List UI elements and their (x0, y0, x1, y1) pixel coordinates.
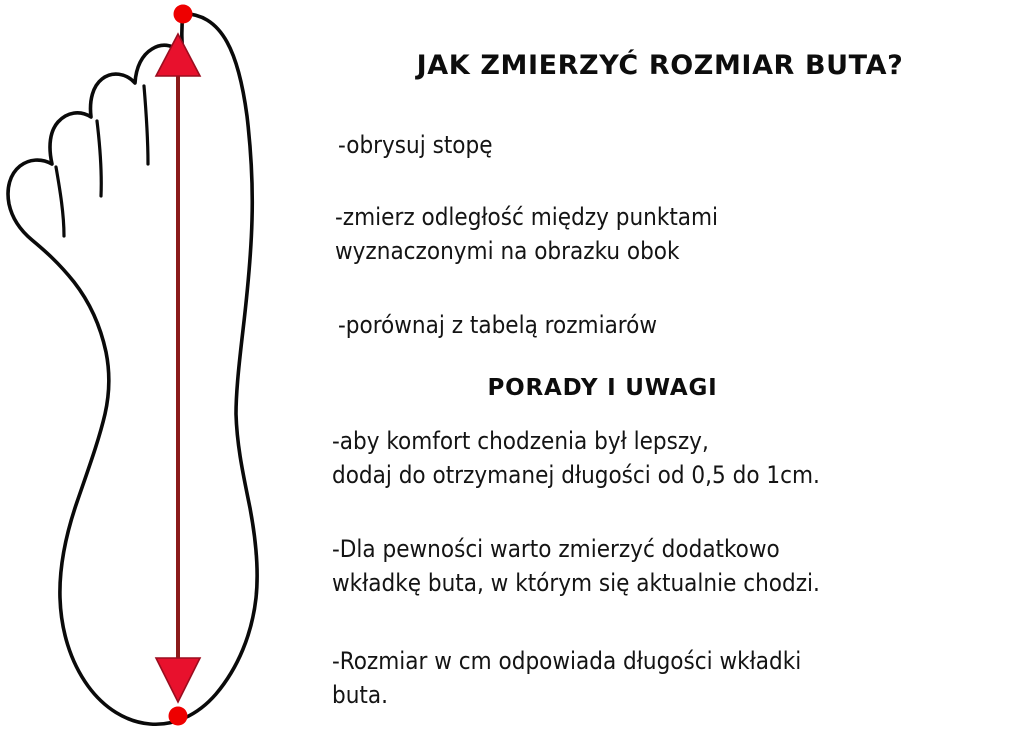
foot-outline-path (8, 14, 257, 724)
instructions-panel: JAK ZMIERZYĆ ROZMIAR BUTA? -obrysuj stop… (330, 0, 1024, 736)
toe-marker-dot (174, 5, 193, 24)
tip-2: -Dla pewności warto zmierzyć dodatkowo w… (332, 532, 820, 600)
foot-diagram (0, 0, 330, 736)
section-title-tips: PORADY I UWAGI (330, 375, 875, 401)
page-title: JAK ZMIERZYĆ ROZMIAR BUTA? (330, 50, 990, 81)
instruction-step-3: -porównaj z tabelą rozmiarów (338, 308, 657, 342)
heel-marker-dot (169, 707, 188, 726)
instruction-step-2: -zmierz odległość między punktami wyznac… (335, 200, 718, 268)
foot-outline-svg (0, 0, 330, 736)
instruction-step-1: -obrysuj stopę (338, 128, 493, 162)
tip-1: -aby komfort chodzenia był lepszy, dodaj… (332, 424, 820, 492)
tip-3: -Rozmiar w cm odpowiada długości wkładki… (332, 644, 801, 712)
